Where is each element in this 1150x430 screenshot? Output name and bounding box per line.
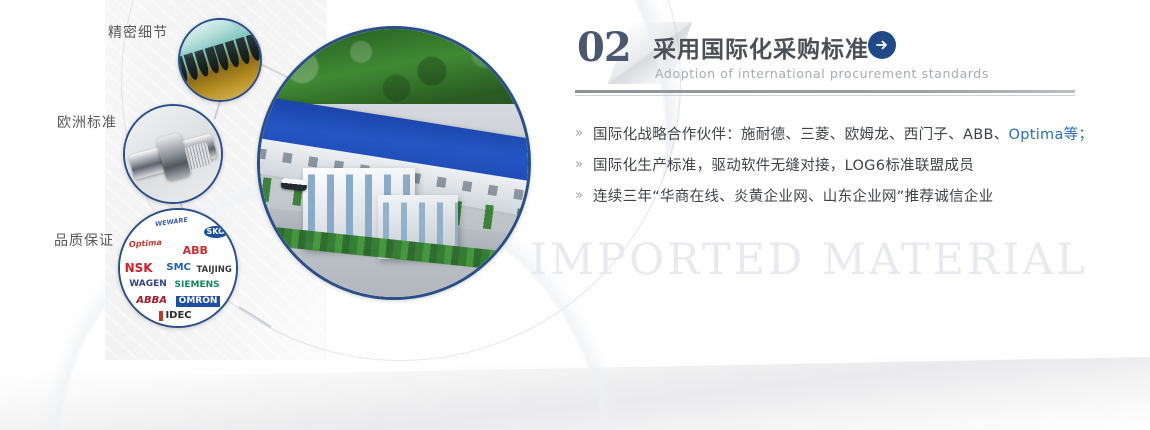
brand-logo-cloud: WEWARESKOOptimaABBNSKSMCTAIJINGWAGENSIEM… [120,210,236,326]
factory-aerial-photo-circle [257,26,531,300]
promo-banner: 精密细节 欧洲标准 品质保证 WEWARESKOOptimaABBNSKSMCT… [0,0,1150,430]
watermark-text: IMPORTED MATERIAL [530,235,1088,285]
brand-logo: TAIJING [197,266,232,275]
list-item-text: 国际化战略合作伙伴：施耐德、三菱、欧姆龙、西门子、ABB、 [593,127,1009,143]
brand-logo: ABB [183,245,208,256]
chevron-double-right-icon: » [575,127,593,140]
list-item-label: 国际化生产标准，驱动软件无缝对接，LOG6标准联盟成员 [593,154,974,175]
chevron-double-right-icon: » [575,158,593,171]
brand-logo: SIEMENS [175,281,220,290]
precision-gear-photo-circle [178,18,262,102]
brand-logo: IDEC [159,311,191,321]
ball-screw-photo-circle [123,104,223,204]
list-item: »国际化生产标准，驱动软件无缝对接，LOG6标准联盟成员 [575,149,1095,180]
list-item-label: 连续三年“华商在线、炎黄企业网、山东企业网”推荐诚信企业 [593,185,993,206]
brand-logo: Optima [129,239,162,249]
brand-logo: WAGEN [129,280,167,289]
divider-line-thick [575,90,1075,93]
section-number: 02 [577,28,631,68]
list-item-text: 连续三年“华商在线、炎黄企业网、山东企业网”推荐诚信企业 [593,189,993,205]
brand-logo: NSK [125,262,153,274]
factory-photo [260,29,528,297]
list-item-highlight: Optima等； [1009,127,1094,143]
page-subtitle: Adoption of international procurement st… [655,66,989,81]
page-title: 采用国际化采购标准 [653,30,869,64]
divider-line-thin [575,95,1075,96]
list-item: »连续三年“华商在线、炎黄企业网、山东企业网”推荐诚信企业 [575,180,1095,211]
chevron-double-right-icon: » [575,189,593,202]
partner-brands-circle: WEWARESKOOptimaABBNSKSMCTAIJINGWAGENSIEM… [118,208,238,328]
brand-logo: OMRON [176,296,221,307]
sidebar-label-european-standard: 欧洲标准 [57,112,117,132]
brand-logo: SKO [204,226,228,238]
brand-logo: ABBA [136,296,167,306]
brand-logo: SMC [166,263,191,273]
sidebar-label-quality-assurance: 品质保证 [54,230,114,250]
header-divider [575,90,1075,97]
arrow-right-icon[interactable] [868,31,896,59]
content-column: IMPORTED MATERIAL 02 采用国际化采购标准 Adoption … [575,0,1095,430]
list-item-label: 国际化战略合作伙伴：施耐德、三菱、欧姆龙、西门子、ABB、Optima等； [593,123,1093,144]
sidebar-label-precision: 精密细节 [108,22,168,42]
brand-logo: WEWARE [155,217,189,228]
list-item: »国际化战略合作伙伴：施耐德、三菱、欧姆龙、西门子、ABB、Optima等； [575,118,1095,149]
list-item-text: 国际化生产标准，驱动软件无缝对接，LOG6标准联盟成员 [593,158,974,174]
feature-bullet-list: »国际化战略合作伙伴：施耐德、三菱、欧姆龙、西门子、ABB、Optima等；»国… [575,118,1095,211]
